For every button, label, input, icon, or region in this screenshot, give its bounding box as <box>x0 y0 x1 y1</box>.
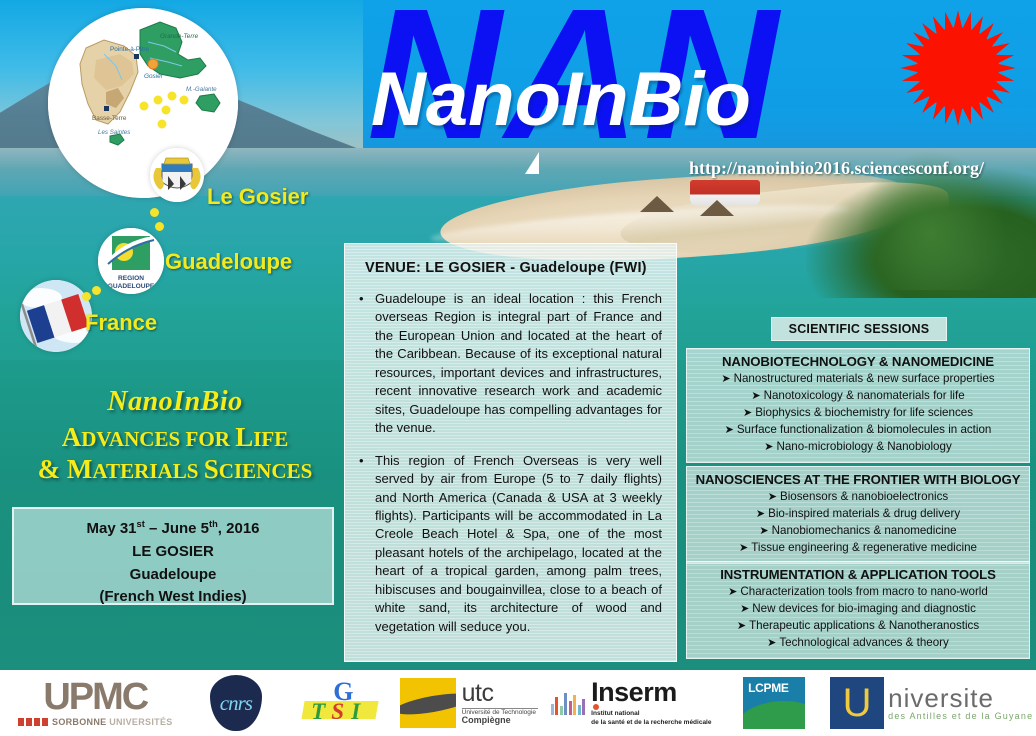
arrow-icon: ➤ <box>743 407 752 419</box>
label-le-gosier: Le Gosier <box>207 184 308 210</box>
svg-text:Basse-Terre: Basse-Terre <box>92 115 127 122</box>
session-topic: ➤Nanostructured materials & new surface … <box>691 371 1025 388</box>
france-flag-bubble <box>20 280 92 352</box>
session-topic: ➤Therapeutic applications & Nanotheranos… <box>691 618 1025 635</box>
connector-dot <box>82 292 91 301</box>
arrow-icon: ➤ <box>740 603 749 615</box>
session-topic: ➤Surface functionalization & biomolecule… <box>691 422 1025 439</box>
session-topic: ➤Biophysics & biochemistry for life scie… <box>691 405 1025 422</box>
arrow-icon: ➤ <box>739 542 748 554</box>
header-banner: NAN NanoInBio <box>363 0 1036 148</box>
session-group-nanobiotechnology: NANOBIOTECHNOLOGY & NANOMEDICINE ➤Nanost… <box>686 348 1030 463</box>
upmc-sorbonne-text: SORBONNE UNIVERSITÉS <box>52 717 173 727</box>
inserm-bars-icon <box>551 691 586 715</box>
cnrs-shield-icon: cnrs <box>210 675 262 731</box>
arrow-icon: ➤ <box>768 491 777 503</box>
logo-inserm[interactable]: Inserm Institut nationalde la santé et d… <box>541 675 720 731</box>
venue-paragraph-2: This region of French Overseas is very w… <box>375 452 662 637</box>
region-guadeloupe-logo-bubble: REGION GUADELOUPE <box>98 228 164 294</box>
svg-text:M.-Galante: M.-Galante <box>186 86 217 93</box>
logo-cnrs[interactable]: cnrs <box>183 675 290 731</box>
france-flag-icon <box>20 280 92 352</box>
lcpme-wave-icon <box>743 701 805 729</box>
bullet-icon: • <box>359 452 369 637</box>
le-gosier-crest-bubble <box>150 148 204 202</box>
svg-text:GUADELOUPE: GUADELOUPE <box>108 283 155 290</box>
upmc-subtitle: SORBONNE UNIVERSITÉS <box>18 717 173 727</box>
arrow-icon: ➤ <box>737 620 746 632</box>
utc-subtitle: Université de TechnologieCompiègne <box>462 710 538 726</box>
arrow-icon: ➤ <box>721 373 730 385</box>
venue-panel: VENUE: LE GOSIER - Guadeloupe (FWI) • Gu… <box>344 243 677 662</box>
lcpme-mark-icon: LCPME <box>743 677 805 729</box>
date-location-box: May 31st – June 5th, 2016 LE GOSIER Guad… <box>12 507 334 605</box>
nanoinbio-logo-text: NanoInBio <box>371 62 751 138</box>
upmc-wordmark: UPMC <box>43 679 147 715</box>
session-topic: ➤Bio-inspired materials & drug delivery <box>691 506 1025 523</box>
arrow-icon: ➤ <box>767 637 776 649</box>
arrow-icon: ➤ <box>751 390 760 402</box>
upmc-squares-icon <box>18 718 48 726</box>
conference-region: Guadeloupe <box>14 564 332 587</box>
logo-universite-antilles-guyane[interactable]: U niversite des Antilles et de la Guyane <box>827 675 1036 731</box>
bullet-icon: • <box>359 290 369 438</box>
svg-text:Gosier: Gosier <box>144 73 164 80</box>
logo-lcpme[interactable]: LCPME <box>721 675 828 731</box>
session-group-heading: NANOSCIENCES AT THE FRONTIER WITH BIOLOG… <box>691 472 1025 487</box>
uag-subtitle: des Antilles et de la Guyane <box>888 712 1033 721</box>
tour-boat-icon <box>690 180 760 206</box>
svg-text:REGION: REGION <box>118 275 144 282</box>
arrow-icon: ➤ <box>728 586 737 598</box>
utc-wordmark: utc <box>462 681 538 706</box>
conference-country: (French West Indies) <box>14 586 332 609</box>
inserm-subtitle: Institut nationalde la santé et de la re… <box>591 710 711 726</box>
guadeloupe-map-icon: Pointe-à-Pitre Gosier Basse-Terre Grande… <box>48 8 238 198</box>
session-topic: ➤Biosensors & nanobioelectronics <box>691 489 1025 506</box>
guadeloupe-map-bubble: Pointe-à-Pitre Gosier Basse-Terre Grande… <box>48 8 238 198</box>
label-france: France <box>85 310 157 336</box>
venue-bullet-2: • This region of French Overseas is very… <box>359 452 662 637</box>
session-topic: ➤Technological advances & theory <box>691 635 1025 652</box>
conference-city: LE GOSIER <box>14 541 332 564</box>
venue-paragraph-1: Guadeloupe is an ideal location : this F… <box>375 290 662 438</box>
session-group-heading: INSTRUMENTATION & APPLICATION TOOLS <box>691 567 1025 582</box>
session-group-instrumentation: INSTRUMENTATION & APPLICATION TOOLS ➤Cha… <box>686 561 1030 659</box>
conference-poster: NAN NanoInBio http://nanoinbio2016.scien… <box>0 0 1036 736</box>
session-topic: ➤Nano-microbiology & Nanobiology <box>691 439 1025 456</box>
venue-bullet-1: • Guadeloupe is an ideal location : this… <box>359 290 662 438</box>
logo-gtsi[interactable]: G T S I <box>289 675 396 731</box>
coat-of-arms-icon <box>150 148 204 202</box>
red-sunburst-icon <box>898 8 1018 128</box>
label-guadeloupe: Guadeloupe <box>165 249 292 275</box>
connector-dot <box>150 208 159 217</box>
arrow-icon: ➤ <box>759 525 768 537</box>
venue-panel-title: VENUE: LE GOSIER - Guadeloupe (FWI) <box>365 260 662 276</box>
conference-dates: May 31st – June 5th, 2016 <box>14 517 332 541</box>
uag-u-letter: U <box>843 687 872 719</box>
lcpme-wordmark: LCPME <box>748 681 789 695</box>
inserm-wordmark: Inserm <box>591 679 711 706</box>
sponsor-logos-footer: UPMC SORBONNE UNIVERSITÉS cnrs G T S I u… <box>0 670 1036 736</box>
poster-title: NanoInBio ADVANCES FOR LIFE & MATERIALS … <box>10 385 340 486</box>
region-guadeloupe-icon: REGION GUADELOUPE <box>98 228 164 294</box>
uag-text-block: niversite des Antilles et de la Guyane <box>888 685 1033 722</box>
uag-wordmark: niversite <box>888 685 1033 712</box>
gtsi-i-letter: I <box>351 699 360 725</box>
conference-url[interactable]: http://nanoinbio2016.sciencesconf.org/ <box>689 158 984 179</box>
session-topic: ➤New devices for bio-imaging and diagnos… <box>691 601 1025 618</box>
scientific-sessions-banner: SCIENTIFIC SESSIONS <box>771 317 947 341</box>
utc-mark-icon <box>400 678 456 728</box>
svg-text:Pointe-à-Pitre: Pointe-à-Pitre <box>110 46 150 53</box>
logo-upmc[interactable]: UPMC SORBONNE UNIVERSITÉS <box>8 675 183 731</box>
inserm-text-block: Inserm Institut nationalde la santé et d… <box>591 679 711 726</box>
session-topic: ➤Tissue engineering & regenerative medic… <box>691 540 1025 557</box>
session-group-nanosciences: NANOSCIENCES AT THE FRONTIER WITH BIOLOG… <box>686 466 1030 564</box>
title-line-1: NanoInBio <box>10 385 340 418</box>
logo-utc[interactable]: utc Université de TechnologieCompiègne <box>396 675 541 731</box>
arrow-icon: ➤ <box>725 424 734 436</box>
arrow-icon: ➤ <box>756 508 765 520</box>
utc-text-block: utc Université de TechnologieCompiègne <box>462 681 538 726</box>
session-topic: ➤Nanotoxicology & nanomaterials for life <box>691 388 1025 405</box>
title-line-2: ADVANCES FOR LIFE <box>10 422 340 454</box>
session-group-heading: NANOBIOTECHNOLOGY & NANOMEDICINE <box>691 354 1025 369</box>
connector-dot <box>155 222 164 231</box>
svg-text:Les Saintes: Les Saintes <box>98 129 130 136</box>
svg-text:Grande-Terre: Grande-Terre <box>160 33 199 40</box>
connector-dot <box>92 286 101 295</box>
gtsi-s-letter: S <box>331 699 344 725</box>
session-topic: ➤Nanobiomechanics & nanomedicine <box>691 523 1025 540</box>
uag-mark-icon: U <box>830 677 884 729</box>
gtsi-t-letter: T <box>311 699 325 725</box>
arrow-icon: ➤ <box>764 441 773 453</box>
cnrs-wordmark: cnrs <box>220 691 252 716</box>
title-line-3: & MATERIALS SCIENCES <box>10 454 340 486</box>
session-topic: ➤Characterization tools from macro to na… <box>691 584 1025 601</box>
